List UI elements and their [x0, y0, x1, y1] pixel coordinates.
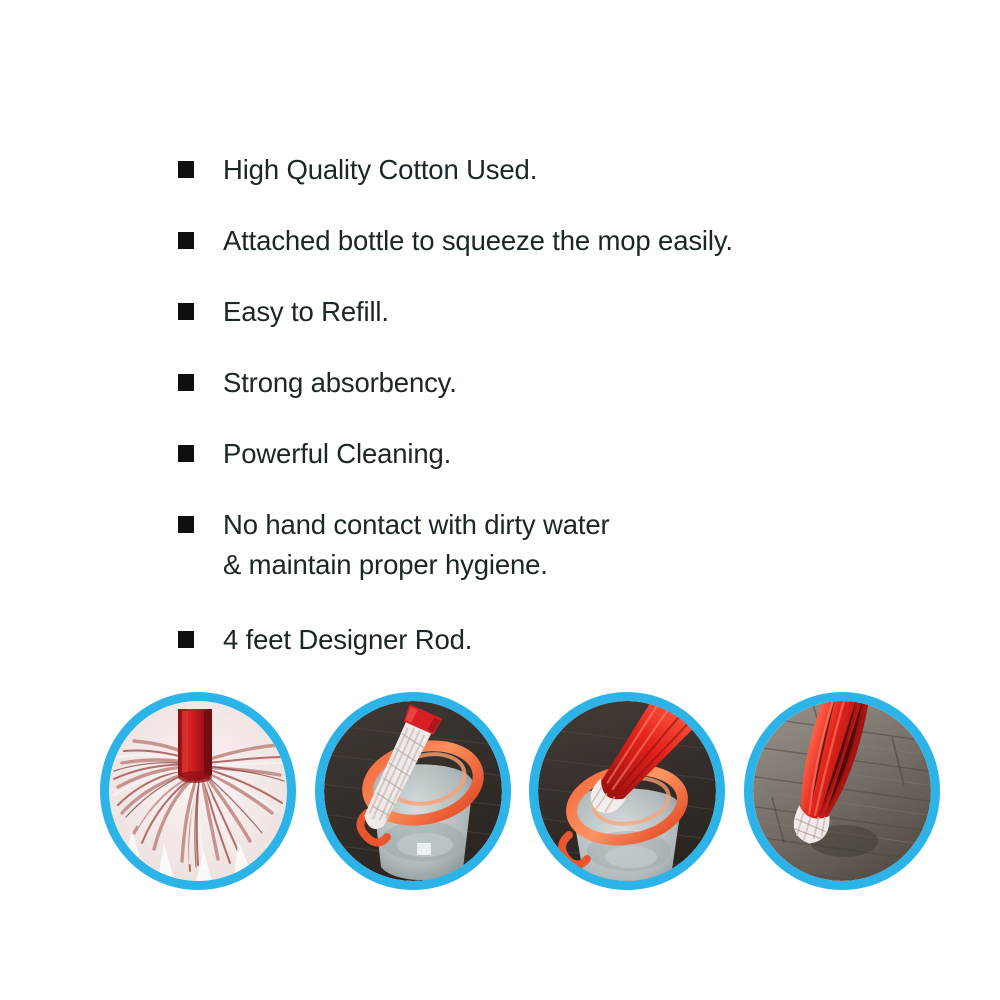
- mop-rod-over-bucket-photo: [538, 701, 716, 881]
- feature-item: High Quality Cotton Used.: [178, 150, 878, 190]
- bullet-square-icon: [178, 374, 194, 391]
- bullet-square-icon: [178, 161, 194, 178]
- feature-text: 4 feet Designer Rod.: [223, 620, 472, 660]
- feature-text: Powerful Cleaning.: [223, 434, 451, 474]
- feature-item: Attached bottle to squeeze the mop easil…: [178, 221, 878, 261]
- thumbnail-mop-on-wooden-floor: [744, 692, 940, 890]
- feature-item: Strong absorbency.: [178, 363, 878, 403]
- bullet-square-icon: [178, 232, 194, 249]
- thumbnail-mop-in-bucket-squeeze: [315, 692, 511, 890]
- feature-list: High Quality Cotton Used. Attached bottl…: [178, 150, 878, 691]
- feature-text: High Quality Cotton Used.: [223, 150, 537, 190]
- product-feature-image: High Quality Cotton Used. Attached bottl…: [0, 0, 1000, 1000]
- mop-squeezing-in-bucket-photo: [324, 701, 502, 881]
- feature-text: Easy to Refill.: [223, 292, 389, 332]
- mop-rod: [178, 709, 212, 783]
- bullet-square-icon: [178, 303, 194, 320]
- feature-item: No hand contact with dirty water & maint…: [178, 505, 878, 585]
- thumbnail-mop-head-closeup: [100, 692, 296, 890]
- bullet-square-icon: [178, 445, 194, 462]
- feature-text: Attached bottle to squeeze the mop easil…: [223, 221, 733, 261]
- thumbnail-mop-rod-over-bucket: [529, 692, 725, 890]
- bullet-square-icon: [178, 516, 194, 533]
- feature-text: Strong absorbency.: [223, 363, 457, 403]
- mop-head-closeup-photo: [109, 701, 287, 881]
- feature-item: Easy to Refill.: [178, 292, 878, 332]
- feature-item: Powerful Cleaning.: [178, 434, 878, 474]
- feature-item: 4 feet Designer Rod.: [178, 620, 878, 660]
- bullet-square-icon: [178, 631, 194, 648]
- mop-cleaning-wood-floor-photo: [753, 701, 931, 881]
- thumbnail-row: [100, 692, 940, 892]
- feature-text: No hand contact with dirty water & maint…: [223, 505, 610, 585]
